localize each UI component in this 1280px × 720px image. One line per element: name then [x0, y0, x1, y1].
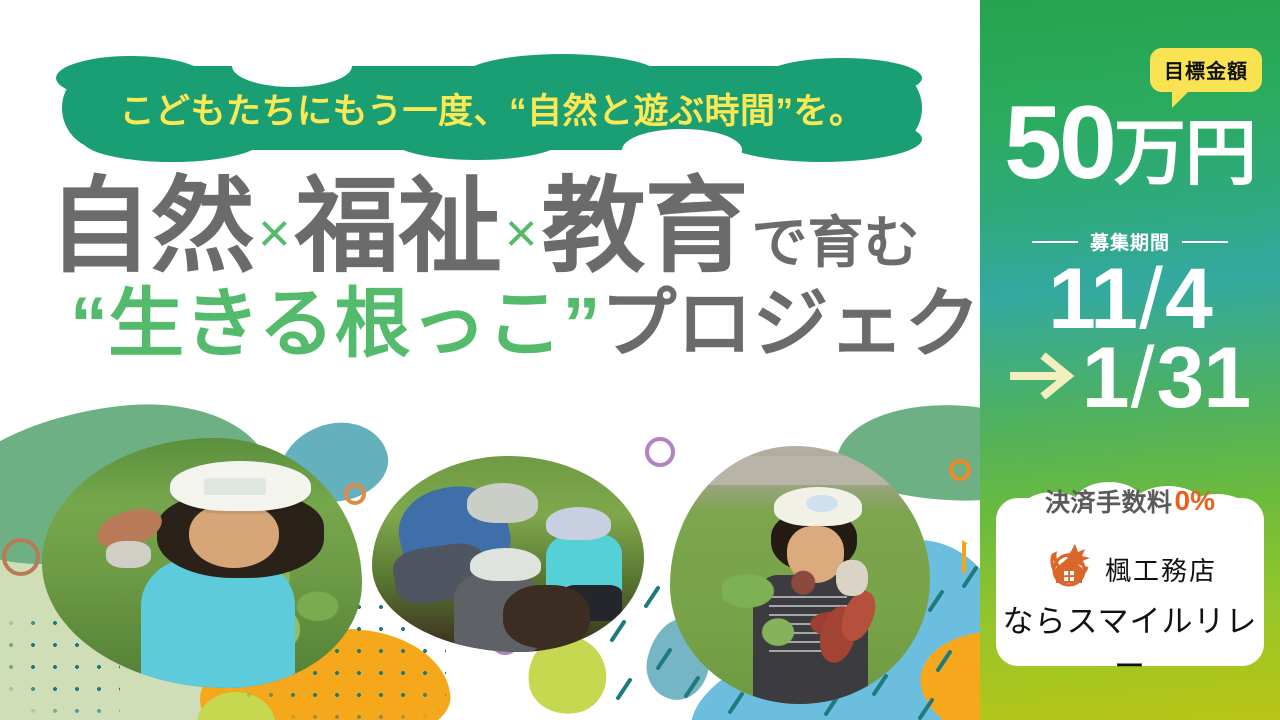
photo-children-digging [372, 456, 644, 652]
campaign-name: ならスマイルリレー [996, 596, 1264, 686]
start-slash: / [1137, 258, 1165, 341]
goal-amount-number: 50 [1004, 96, 1114, 192]
multiply-icon-2: × [501, 205, 542, 261]
end-day: 31 [1157, 337, 1251, 420]
open-quote-mark: “ [70, 287, 108, 363]
multiply-icon-1: × [254, 205, 295, 261]
brown-ring-decoration [2, 538, 40, 576]
end-month: 1 [1082, 337, 1129, 420]
poster-canvas: こどもたちにもう一度、“自然と遊ぶ時間”を。 自然 × 福祉 × 教育 で育む … [0, 0, 1280, 720]
photo-boy-with-harvest [670, 446, 930, 704]
main-headline: 自然 × 福祉 × 教育 で育む “ 生きる根っこ ” プロジェクト [48, 175, 948, 363]
lime-circle-decoration [196, 692, 276, 720]
start-day: 4 [1165, 258, 1212, 341]
end-date-row: 1 / 31 [980, 337, 1280, 420]
photo-child-holding-plant [42, 438, 362, 688]
info-panel: 目標金額 50 万円 募集期間 11 / 4 [980, 0, 1280, 720]
goal-amount: 50 万円 [980, 96, 1280, 192]
divider-right [1182, 241, 1228, 243]
start-month: 11 [1048, 258, 1137, 341]
tagline-ribbon: こどもたちにもう一度、“自然と遊ぶ時間”を。 [62, 66, 922, 150]
start-date-row: 11 / 4 [980, 258, 1280, 341]
headline-word-nature: 自然 [48, 175, 254, 279]
period-dates: 11 / 4 1 / 31 [980, 258, 1280, 419]
arrow-right-icon [1010, 352, 1076, 403]
tagline-text: こどもたちにもう一度、“自然と遊ぶ時間”を。 [62, 66, 922, 150]
fee-badge: 決済手数料 0% [996, 478, 1264, 524]
headline-word-welfare: 福祉 [295, 175, 501, 279]
sponsor-company-name: 楓工務店 [1105, 551, 1217, 588]
end-slash: / [1129, 337, 1157, 420]
divider-left [1032, 241, 1078, 243]
sponsor-logo-row: 楓工務店 [996, 540, 1264, 598]
headline-word-education: 教育 [541, 175, 747, 279]
fee-label: 決済手数料 [1045, 483, 1173, 519]
goal-amount-unit: 万円 [1114, 120, 1256, 188]
fee-value: 0% [1175, 485, 1215, 517]
maple-house-logo-icon [1043, 541, 1095, 598]
goal-amount-badge-label: 目標金額 [1164, 61, 1248, 83]
goal-amount-badge: 目標金額 [1150, 48, 1262, 92]
orange-ring-decoration [949, 459, 971, 481]
headline-suffix: で育む [747, 215, 919, 271]
close-quote-mark: ” [562, 287, 600, 363]
headline-roots: 生きる根っこ [108, 287, 562, 363]
